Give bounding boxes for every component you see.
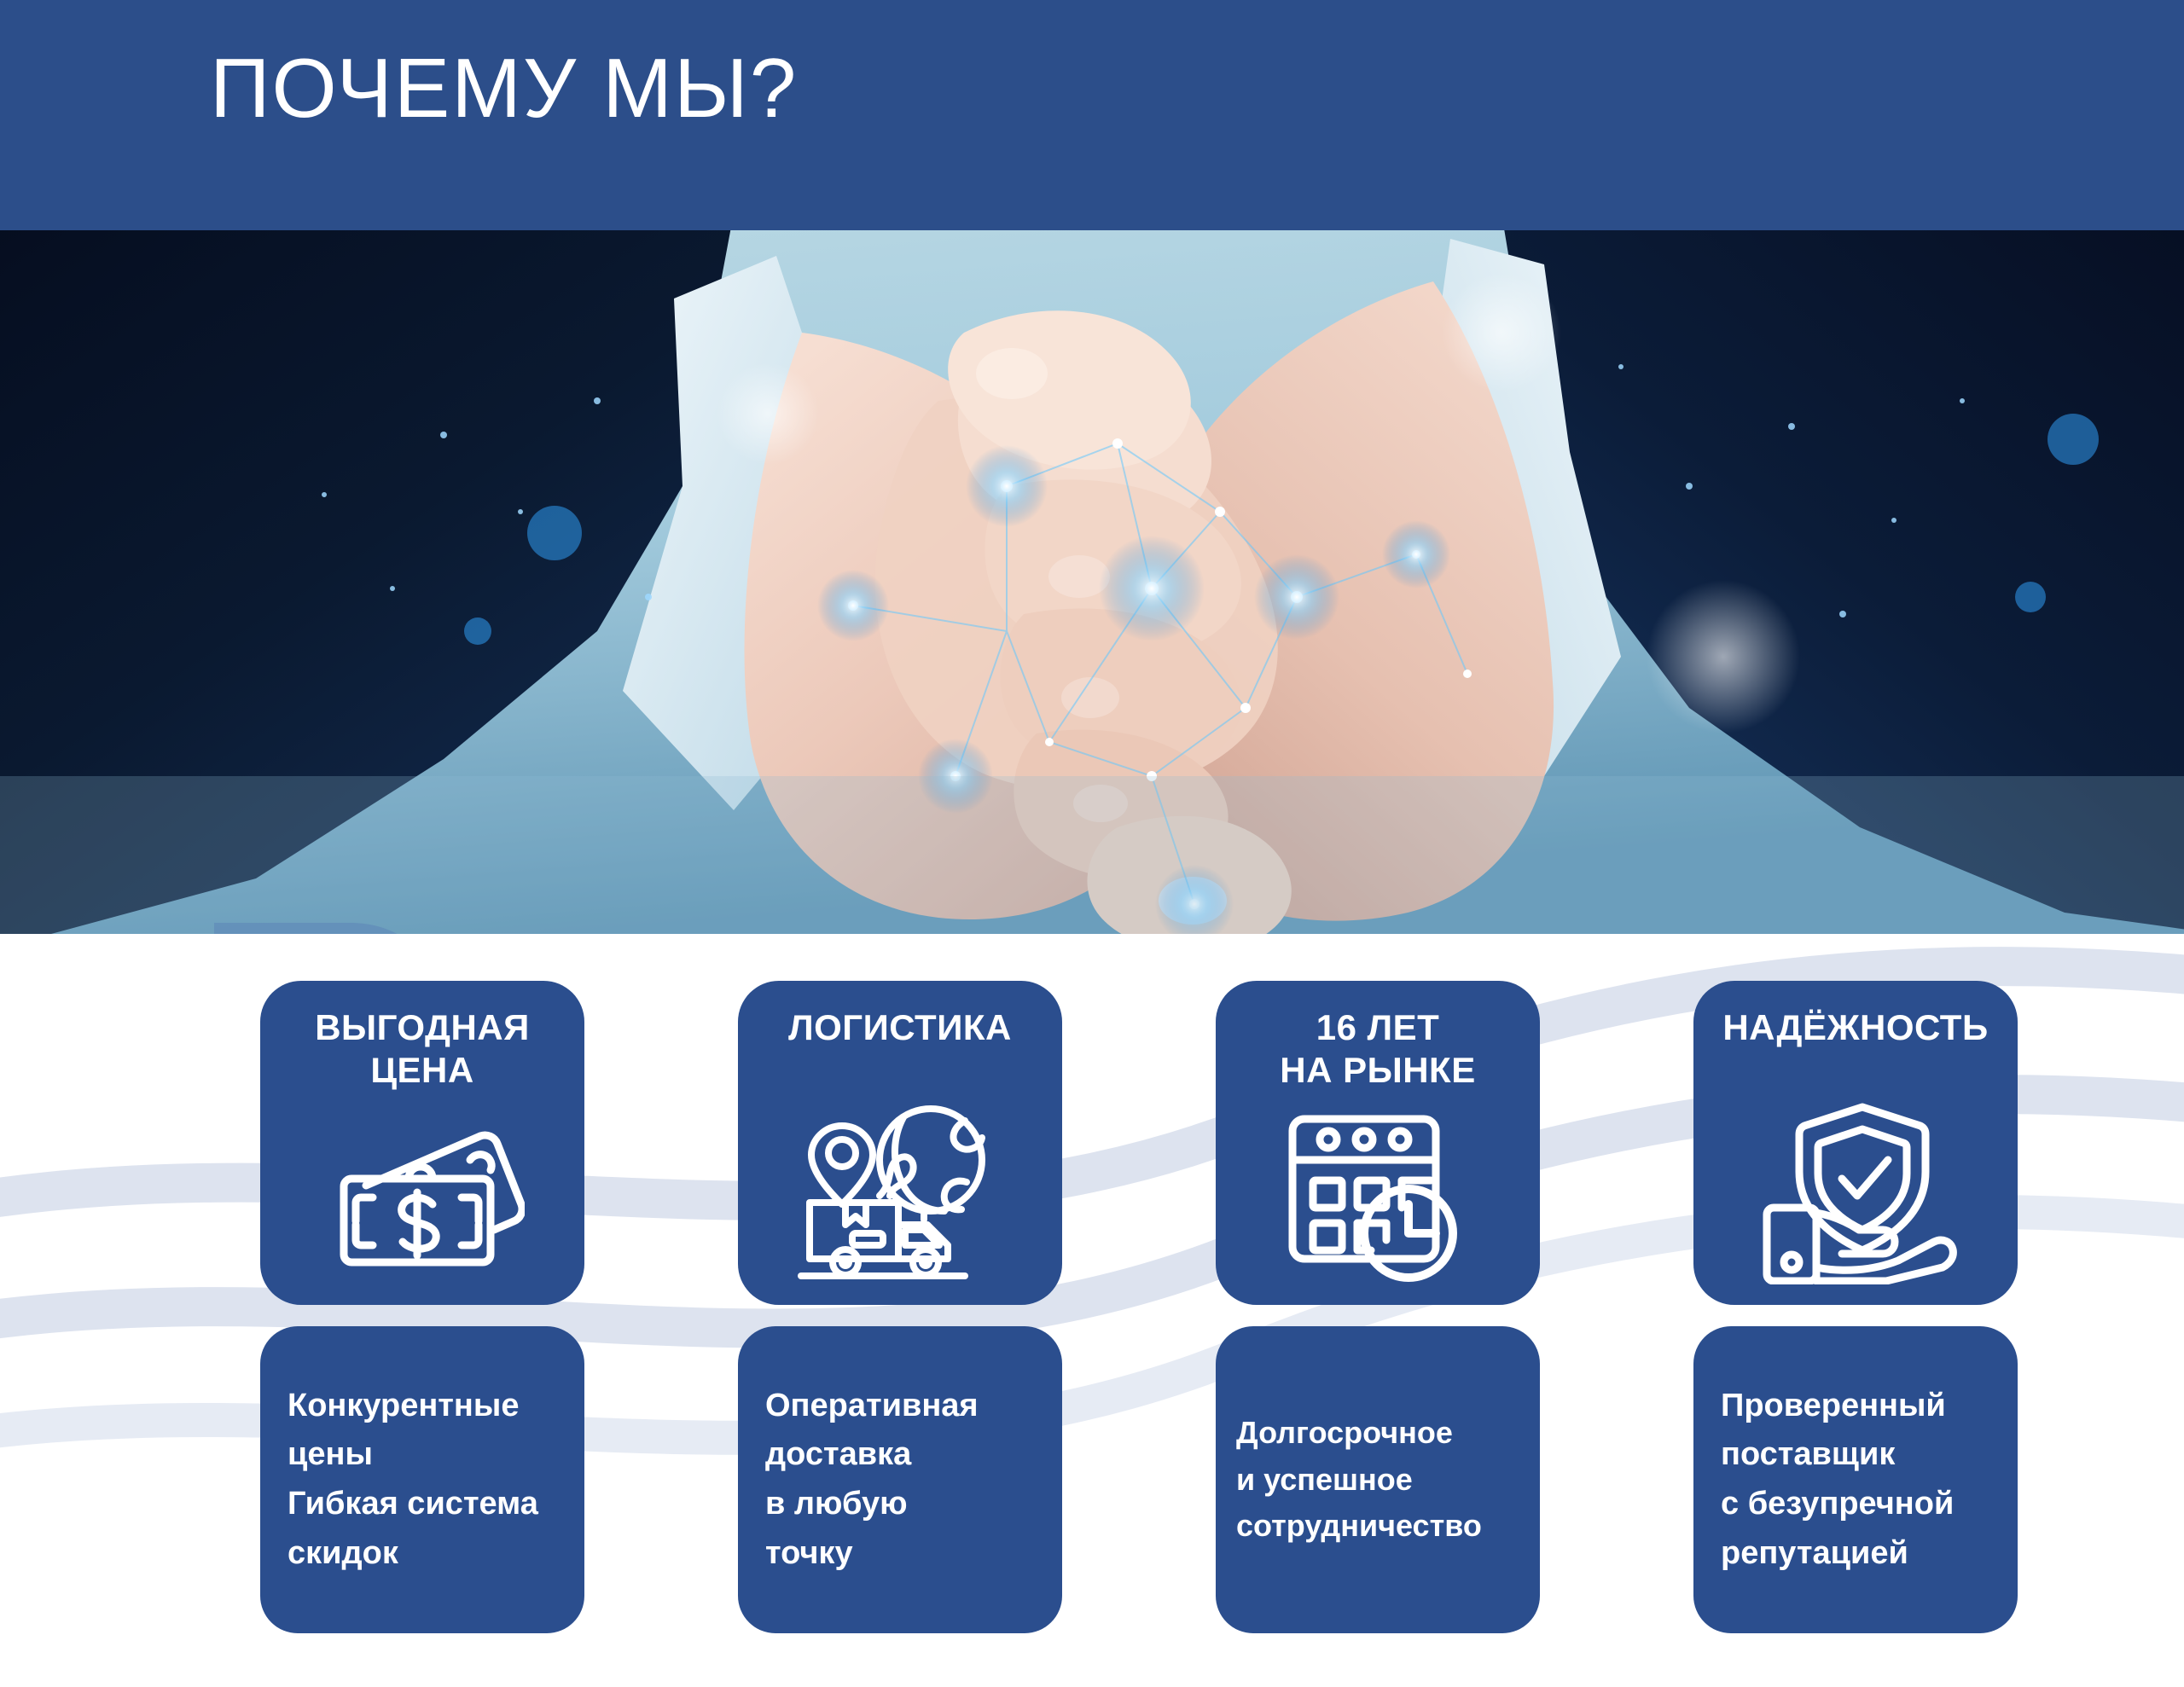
desc-text-logistics: Оперативная доставка в любую точку xyxy=(738,1382,1062,1579)
handshake-photo xyxy=(0,230,2184,934)
icon-card-title-price: ВЫГОДНАЯ ЦЕНА xyxy=(260,1006,584,1091)
page-title: ПОЧЕМУ МЫ? xyxy=(210,43,798,135)
icon-card-reliability[interactable]: НАДЁЖНОСТЬ xyxy=(1693,981,2018,1305)
feature-column-price: ВЫГОДНАЯ ЦЕНА xyxy=(260,981,584,1305)
icon-card-title-logistics: ЛОГИСТИКА xyxy=(738,1006,1062,1049)
desc-card-price: Конкурентные цены Гибкая система скидок xyxy=(260,1326,584,1633)
desc-text-reliability: Проверенный поставщик с безупречной репу… xyxy=(1693,1382,2018,1579)
desc-text-price: Конкурентные цены Гибкая система скидок xyxy=(260,1382,584,1579)
header-band: ПОЧЕМУ МЫ? xyxy=(0,0,2184,230)
icon-card-title-experience: 16 ЛЕТ НА РЫНКЕ xyxy=(1216,1006,1540,1091)
shield-check-hand-icon xyxy=(1753,1100,1958,1284)
feature-column-reliability: НАДЁЖНОСТЬ xyxy=(1693,981,2018,1305)
icon-card-logistics[interactable]: ЛОГИСТИКА xyxy=(738,981,1062,1305)
delivery-truck-globe-pin-icon xyxy=(798,1100,1002,1284)
desc-card-experience: Долгосрочное и успешное сотрудничество xyxy=(1216,1326,1540,1633)
elithim-e-logo-icon xyxy=(167,904,449,934)
icon-card-title-reliability: НАДЁЖНОСТЬ xyxy=(1693,1006,2018,1049)
feature-card-grid: ВЫГОДНАЯ ЦЕНА xyxy=(0,981,2184,1655)
slide-root: ПОЧЕМУ МЫ? xyxy=(0,0,2184,1687)
desc-text-experience: Долгосрочное и успешное сотрудничество xyxy=(1216,1410,1540,1550)
icon-card-price[interactable]: ВЫГОДНАЯ ЦЕНА xyxy=(260,981,584,1305)
feature-column-logistics: ЛОГИСТИКА xyxy=(738,981,1062,1305)
desc-card-reliability: Проверенный поставщик с безупречной репу… xyxy=(1693,1326,2018,1633)
feature-column-experience: 16 ЛЕТ НА РЫНКЕ xyxy=(1216,981,1540,1305)
icon-card-experience[interactable]: 16 ЛЕТ НА РЫНКЕ xyxy=(1216,981,1540,1305)
hero-banner: ЭЛИТХИМ xyxy=(0,230,2184,934)
calendar-clock-icon xyxy=(1275,1104,1480,1288)
desc-card-logistics: Оперативная доставка в любую точку xyxy=(738,1326,1062,1633)
money-bills-dollar-icon xyxy=(320,1104,525,1288)
